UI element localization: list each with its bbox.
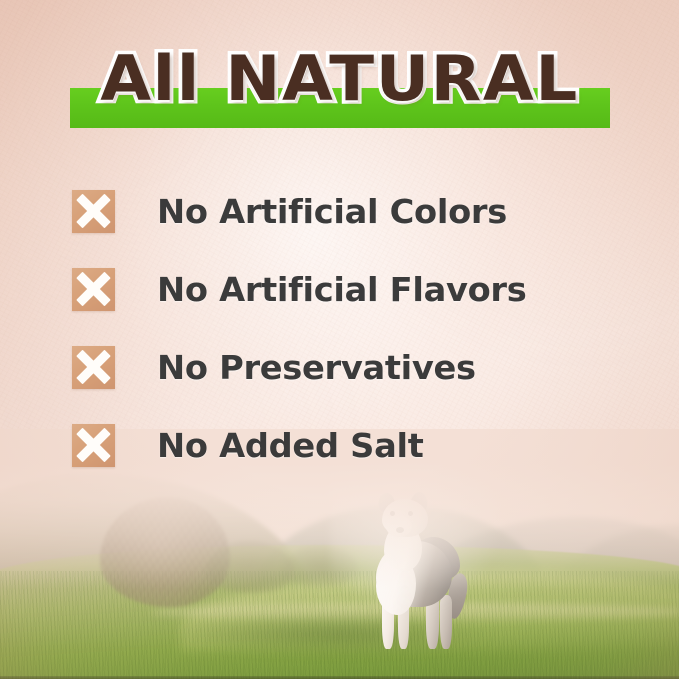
list-item: No Added Salt [72, 406, 632, 484]
dog-nose [396, 527, 404, 533]
page-title: All NATURAL [0, 46, 679, 111]
dog-eye-right [408, 511, 413, 516]
x-mark-icon [72, 268, 115, 311]
bush-small [282, 545, 358, 587]
list-item: No Preservatives [72, 328, 632, 406]
claim-label: No Preservatives [157, 348, 476, 387]
dog-eye-left [390, 511, 395, 516]
list-item: No Artificial Colors [72, 172, 632, 250]
x-mark-icon [72, 190, 115, 233]
x-mark-icon [72, 424, 115, 467]
claim-label: No Artificial Colors [157, 192, 507, 231]
claims-list: No Artificial Colors No Artificial Flavo… [72, 172, 632, 484]
dog-back-leg-right [440, 595, 452, 649]
all-natural-poster: All NATURAL No Artificial Colors No Arti… [0, 0, 679, 679]
list-item: No Artificial Flavors [72, 250, 632, 328]
claim-label: No Artificial Flavors [157, 270, 526, 309]
x-mark-icon [72, 346, 115, 389]
dog-muzzle [386, 515, 412, 537]
claim-label: No Added Salt [157, 426, 424, 465]
dog-border-collie [352, 485, 468, 657]
